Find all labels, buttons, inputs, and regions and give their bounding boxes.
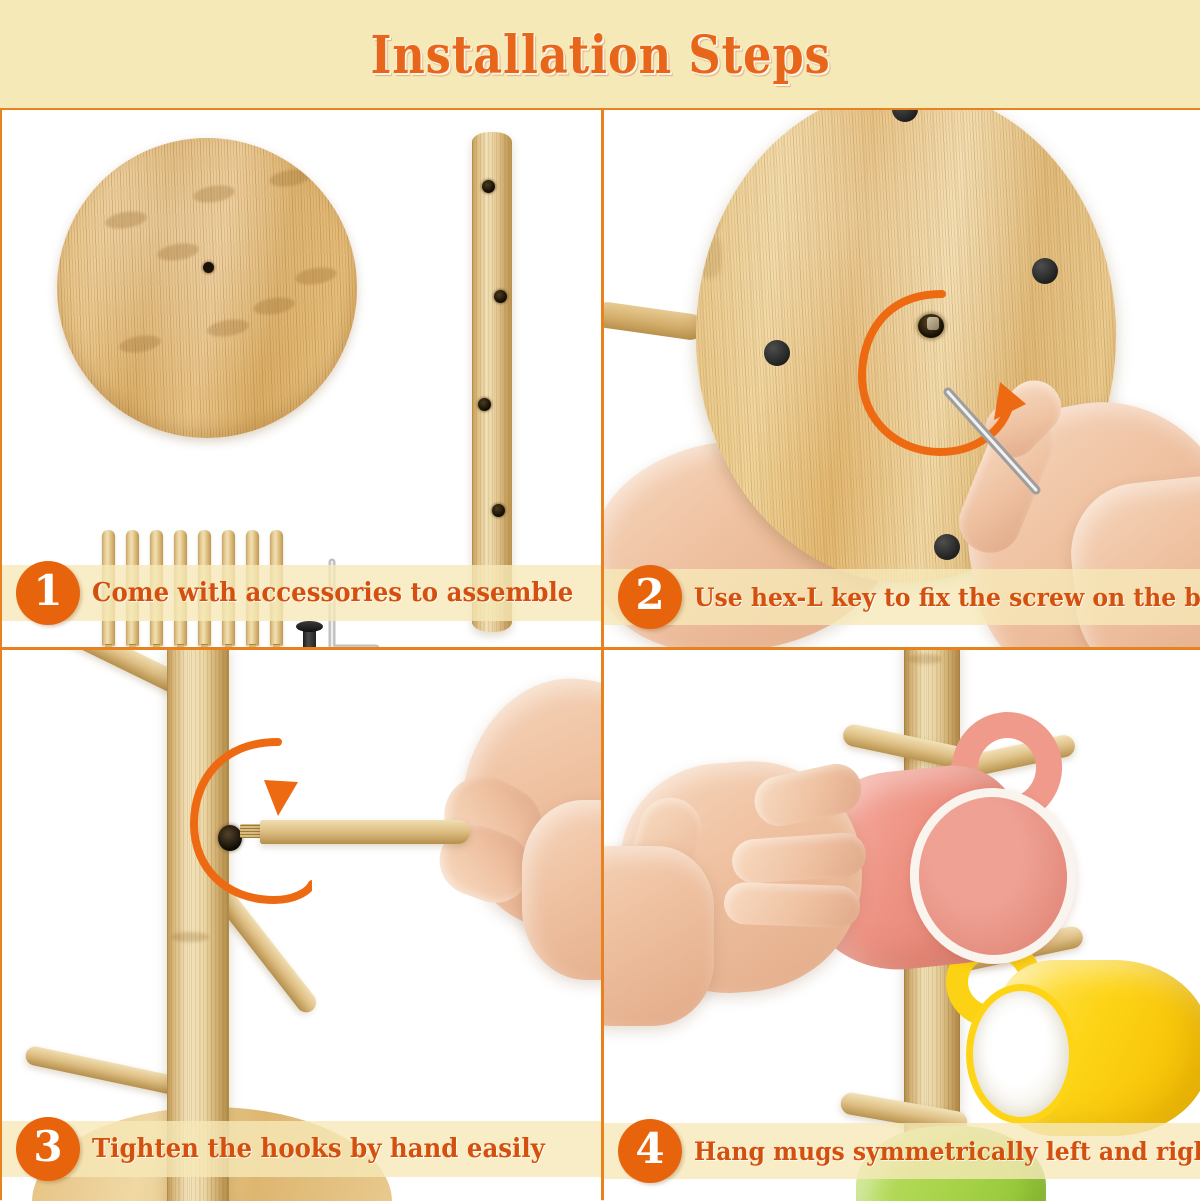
hook-peg-in-hand [260,820,470,844]
base-center-screw [918,314,944,338]
step-3-caption-text: Tighten the hooks by hand easily [92,1134,545,1164]
installation-steps-infographic: Installation Steps [0,0,1200,1200]
base-center-hole [203,262,214,273]
hex-l-key-in-use-icon [940,378,1070,518]
step-panel-1: 1 Come with accessories to assemble [2,110,601,647]
step-panel-3: 3 Tighten the hooks by hand easily [2,650,601,1201]
step-2-number: 2 [635,574,664,616]
step-panel-4: 4 Hang mugs symmetrically left and right [604,650,1200,1201]
step-4-caption-text: Hang mugs symmetrically left and right [694,1137,1200,1166]
step-1-caption-band: 1 Come with accessories to assemble [2,565,601,621]
felt-pad [764,340,790,366]
bamboo-vertical-post [167,650,229,1201]
page-title: Installation Steps [370,25,830,86]
finger [731,831,868,884]
step-1-number: 1 [33,570,62,612]
bolt-screw [303,628,316,647]
step-4-badge: 4 [618,1119,682,1183]
step-2-caption-text: Use hex-L key to fix the screw on the ba… [694,583,1200,612]
finger [723,882,860,929]
bamboo-grain-texture [57,138,357,438]
page-header: Installation Steps [0,0,1200,110]
step-2-caption-band: 2 Use hex-L key to fix the screw on the … [604,569,1200,625]
felt-pad [1032,258,1058,284]
bamboo-vertical-pole [472,132,512,632]
left-forearm [604,846,714,1026]
steps-grid: 1 Come with accessories to assemble [0,108,1200,1200]
bamboo-hook-arm [604,300,705,341]
step-1-caption-text: Come with accessories to assemble [92,578,573,608]
post-screw-socket [218,825,242,851]
step-3-caption-band: 3 Tighten the hooks by hand easily [2,1121,601,1177]
right-forearm [522,800,601,980]
step-3-badge: 3 [16,1117,80,1181]
felt-pad [934,534,960,560]
mug-yellow-interior [966,984,1076,1124]
step-3-number: 3 [33,1126,62,1168]
bamboo-round-base [57,138,357,438]
step-panel-2: 2 Use hex-L key to fix the screw on the … [604,110,1200,647]
step-2-badge: 2 [618,565,682,629]
step-4-caption-band: 4 Hang mugs symmetrically left and right [604,1123,1200,1179]
step-4-number: 4 [635,1128,664,1170]
step-1-badge: 1 [16,561,80,625]
